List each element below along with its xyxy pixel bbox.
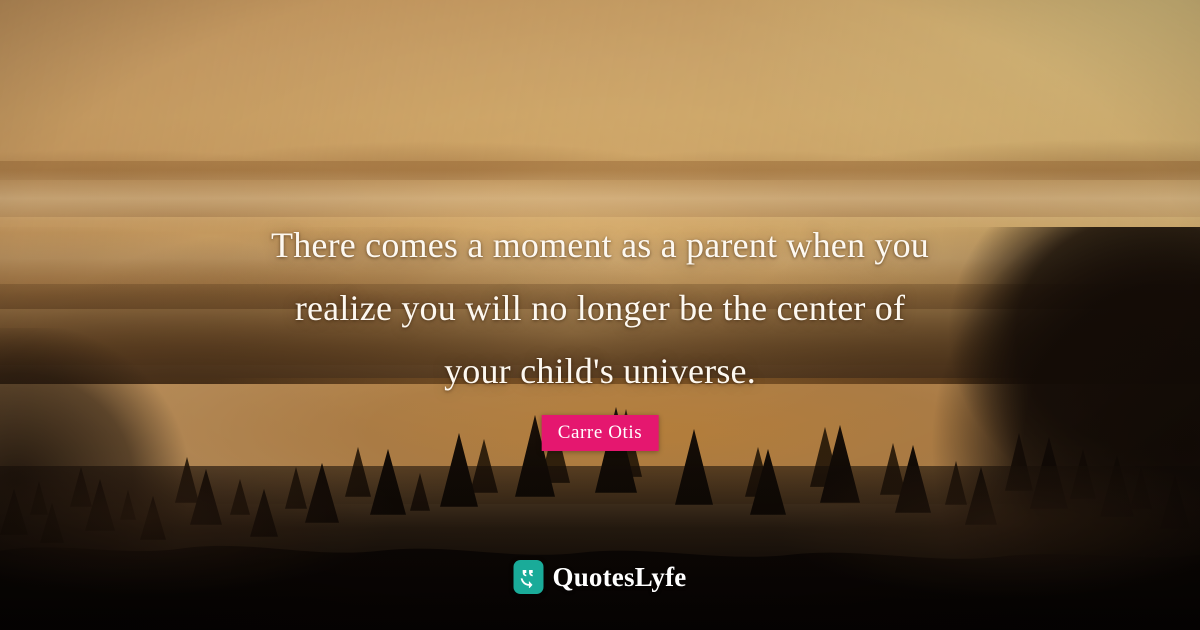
quote-line-3: your child's universe.: [180, 340, 1020, 403]
content-overlay: There comes a moment as a parent when yo…: [0, 0, 1200, 630]
brand-logo[interactable]: QuotesLyfe: [514, 560, 687, 594]
quote-line-1: There comes a moment as a parent when yo…: [180, 214, 1020, 277]
quote-mark-icon: [514, 560, 544, 594]
quote-text-block: There comes a moment as a parent when yo…: [180, 214, 1020, 403]
quote-line-2: realize you will no longer be the center…: [180, 277, 1020, 340]
quote-card: There comes a moment as a parent when yo…: [0, 0, 1200, 630]
brand-name: QuotesLyfe: [553, 562, 687, 593]
author-badge[interactable]: Carre Otis: [542, 415, 659, 451]
